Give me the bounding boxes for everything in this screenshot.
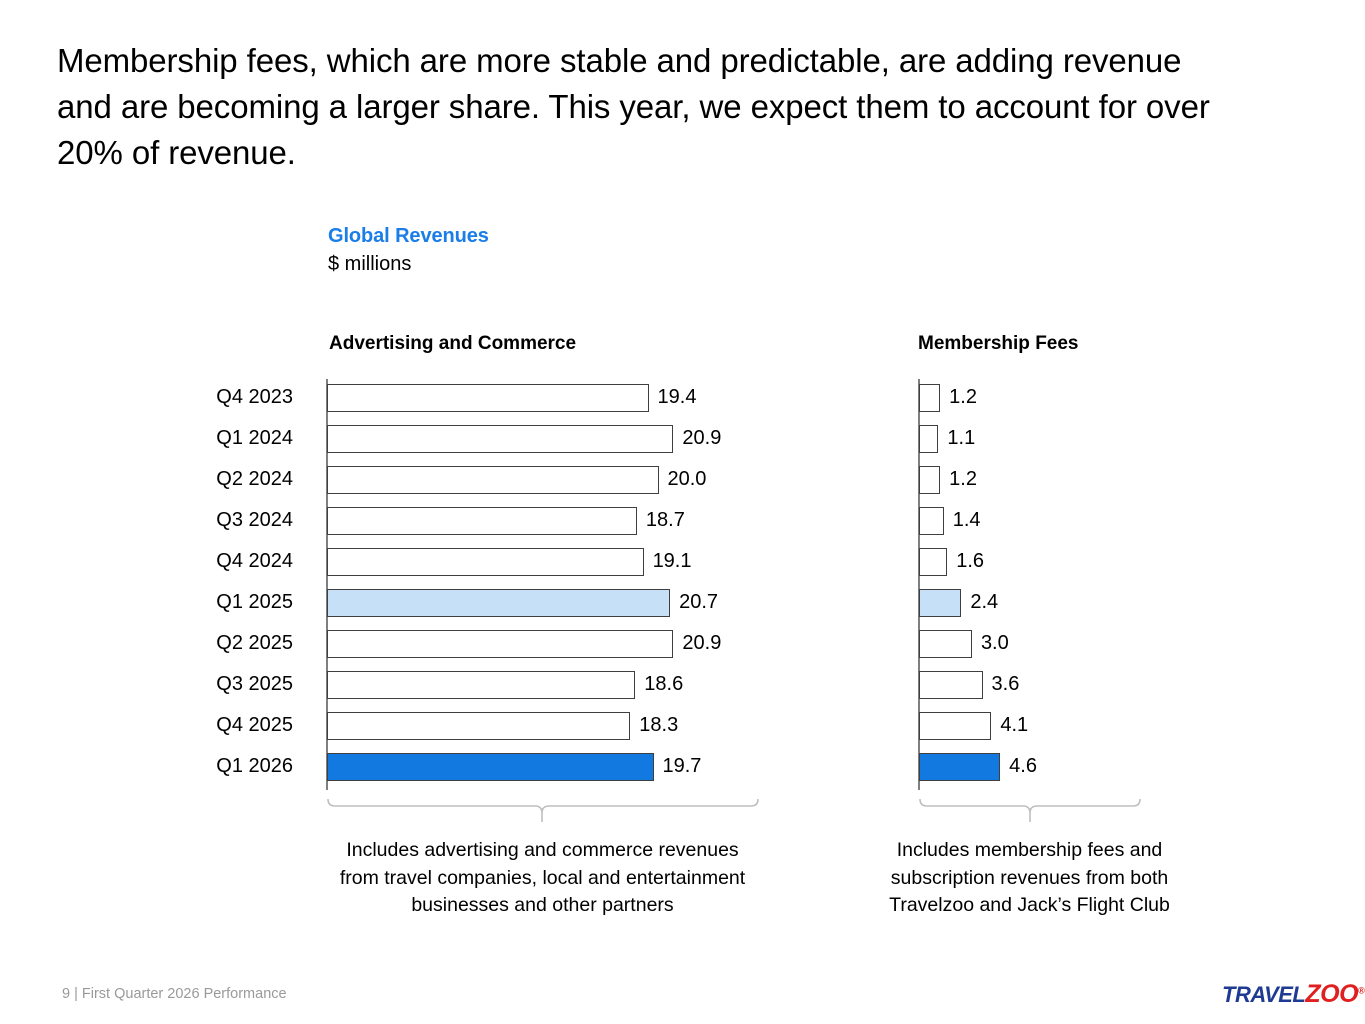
bar-advertising-q1-2025 xyxy=(327,589,670,617)
bar-membership-q4-2024 xyxy=(919,548,947,576)
value-label-advertising: 18.6 xyxy=(644,673,683,696)
slide-headline: Membership fees, which are more stable a… xyxy=(57,38,1242,176)
row-label-q3-2025: Q3 2025 xyxy=(150,673,293,696)
row-label-q4-2024: Q4 2024 xyxy=(150,550,293,573)
value-label-advertising: 19.4 xyxy=(658,386,697,409)
value-label-membership: 1.2 xyxy=(949,386,977,409)
chart-row: Q2 202420.01.2 xyxy=(0,461,1365,502)
bar-membership-q1-2025 xyxy=(919,589,961,617)
chart-row: Q1 202619.74.6 xyxy=(0,748,1365,789)
value-label-membership: 1.4 xyxy=(953,509,981,532)
row-label-q2-2024: Q2 2024 xyxy=(150,468,293,491)
chart-row: Q3 202518.63.6 xyxy=(0,666,1365,707)
chart-row: Q1 202520.72.4 xyxy=(0,584,1365,625)
row-label-q2-2025: Q2 2025 xyxy=(150,632,293,655)
value-label-membership: 4.6 xyxy=(1009,755,1037,778)
chart-rows: Q4 202319.41.2Q1 202420.91.1Q2 202420.01… xyxy=(0,379,1365,789)
bar-advertising-q2-2024 xyxy=(327,466,659,494)
bar-membership-q1-2024 xyxy=(919,425,938,453)
bar-advertising-q2-2025 xyxy=(327,630,673,658)
registered-trademark-icon: ® xyxy=(1358,986,1364,996)
bar-advertising-q1-2024 xyxy=(327,425,673,453)
value-label-membership: 3.0 xyxy=(981,632,1009,655)
value-label-advertising: 19.1 xyxy=(653,550,692,573)
row-label-q4-2025: Q4 2025 xyxy=(150,714,293,737)
caption-advertising: Includes advertising and commerce revenu… xyxy=(327,837,758,920)
row-label-q4-2023: Q4 2023 xyxy=(150,386,293,409)
chart-title: Global Revenues xyxy=(328,225,489,248)
value-label-advertising: 20.9 xyxy=(682,427,721,450)
value-label-membership: 4.1 xyxy=(1000,714,1028,737)
value-label-membership: 2.4 xyxy=(970,591,998,614)
logo-text-travel: TRAVEL xyxy=(1222,982,1305,1007)
brace-membership xyxy=(917,795,1143,823)
chart-subtitle: $ millions xyxy=(328,253,411,276)
bar-advertising-q4-2025 xyxy=(327,712,630,740)
bar-membership-q4-2023 xyxy=(919,384,940,412)
footer-slide-number-and-title: 9 | First Quarter 2026 Performance xyxy=(62,986,287,1002)
logo-text-zoo: ZOO xyxy=(1305,980,1358,1008)
value-label-advertising: 19.7 xyxy=(663,755,702,778)
caption-membership: Includes membership fees and subscriptio… xyxy=(884,837,1175,920)
value-label-membership: 1.2 xyxy=(949,468,977,491)
chart-row: Q4 202518.34.1 xyxy=(0,707,1365,748)
brace-advertising xyxy=(325,795,761,823)
bar-advertising-q4-2023 xyxy=(327,384,649,412)
row-label-q3-2024: Q3 2024 xyxy=(150,509,293,532)
panel-header-membership-fees: Membership Fees xyxy=(918,333,1079,355)
row-label-q1-2026: Q1 2026 xyxy=(150,755,293,778)
value-label-membership: 1.6 xyxy=(956,550,984,573)
value-label-advertising: 20.9 xyxy=(682,632,721,655)
panel-header-advertising-and-commerce: Advertising and Commerce xyxy=(329,333,576,355)
bar-membership-q2-2025 xyxy=(919,630,972,658)
chart-row: Q2 202520.93.0 xyxy=(0,625,1365,666)
travelzoo-logo: TRAVELZOO® xyxy=(1222,980,1364,1006)
chart-row: Q1 202420.91.1 xyxy=(0,420,1365,461)
bar-advertising-q4-2024 xyxy=(327,548,644,576)
bar-membership-q1-2026 xyxy=(919,753,1000,781)
bar-advertising-q3-2024 xyxy=(327,507,637,535)
row-label-q1-2025: Q1 2025 xyxy=(150,591,293,614)
chart-row: Q4 202419.11.6 xyxy=(0,543,1365,584)
value-label-advertising: 18.3 xyxy=(639,714,678,737)
value-label-advertising: 20.7 xyxy=(679,591,718,614)
value-label-advertising: 18.7 xyxy=(646,509,685,532)
chart-row: Q3 202418.71.4 xyxy=(0,502,1365,543)
value-label-membership: 3.6 xyxy=(992,673,1020,696)
bar-membership-q3-2025 xyxy=(919,671,983,699)
bar-membership-q3-2024 xyxy=(919,507,944,535)
bar-membership-q4-2025 xyxy=(919,712,991,740)
bar-advertising-q1-2026 xyxy=(327,753,654,781)
row-label-q1-2024: Q1 2024 xyxy=(150,427,293,450)
bar-membership-q2-2024 xyxy=(919,466,940,494)
bar-advertising-q3-2025 xyxy=(327,671,635,699)
value-label-membership: 1.1 xyxy=(947,427,975,450)
chart-row: Q4 202319.41.2 xyxy=(0,379,1365,420)
value-label-advertising: 20.0 xyxy=(667,468,706,491)
